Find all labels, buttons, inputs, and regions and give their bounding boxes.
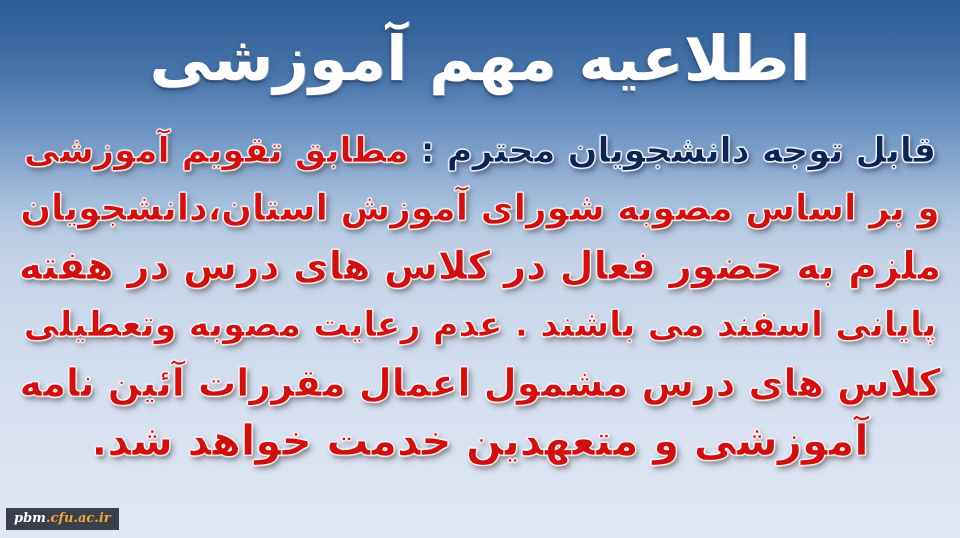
notice-run: ملزم به حضور فعال در کلاس های درس در هفت…	[19, 244, 941, 289]
announcement-line: ملزم به حضور فعال در کلاس های درس در هفت…	[19, 238, 941, 296]
announcement-line: پایانی اسفند می باشند . عدم رعایت مصوبه …	[24, 296, 937, 354]
announcement-line: و بر اساس مصوبه شورای آموزش استان،دانشجو…	[20, 180, 939, 238]
watermark-site-name: pbm	[14, 511, 46, 526]
announcement-poster: اطلاعیه مهم آموزشی قابل توجه دانشجویان م…	[0, 0, 960, 538]
announcement-line: کلاس های درس مشمول اعمال مقررات آئین نام…	[19, 354, 940, 412]
notice-run: آموزشی و متعهدین خدمت خواهد شد.	[91, 416, 868, 465]
notice-run: و بر اساس مصوبه شورای آموزش استان،دانشجو…	[20, 188, 939, 229]
notice-run: پایانی اسفند می باشند . عدم رعایت مصوبه …	[24, 305, 937, 345]
announcement-line: آموزشی و متعهدین خدمت خواهد شد.	[91, 412, 868, 470]
announcement-body: قابل توجه دانشجویان محترم : مطابق تقویم …	[0, 120, 960, 482]
headline-area: اطلاعیه مهم آموزشی	[0, 0, 960, 118]
page-title: اطلاعیه مهم آموزشی	[150, 26, 811, 91]
announcement-line: قابل توجه دانشجویان محترم : مطابق تقویم …	[24, 122, 936, 180]
notice-run: کلاس های درس مشمول اعمال مقررات آئین نام…	[19, 361, 940, 405]
site-watermark: pbm.cfu.ac.ir	[6, 508, 119, 530]
notice-run: مطابق تقویم آموزشی	[24, 131, 408, 171]
salutation-run: قابل توجه دانشجویان محترم :	[408, 131, 936, 171]
watermark-site-domain: .cfu.ac.ir	[46, 511, 111, 526]
